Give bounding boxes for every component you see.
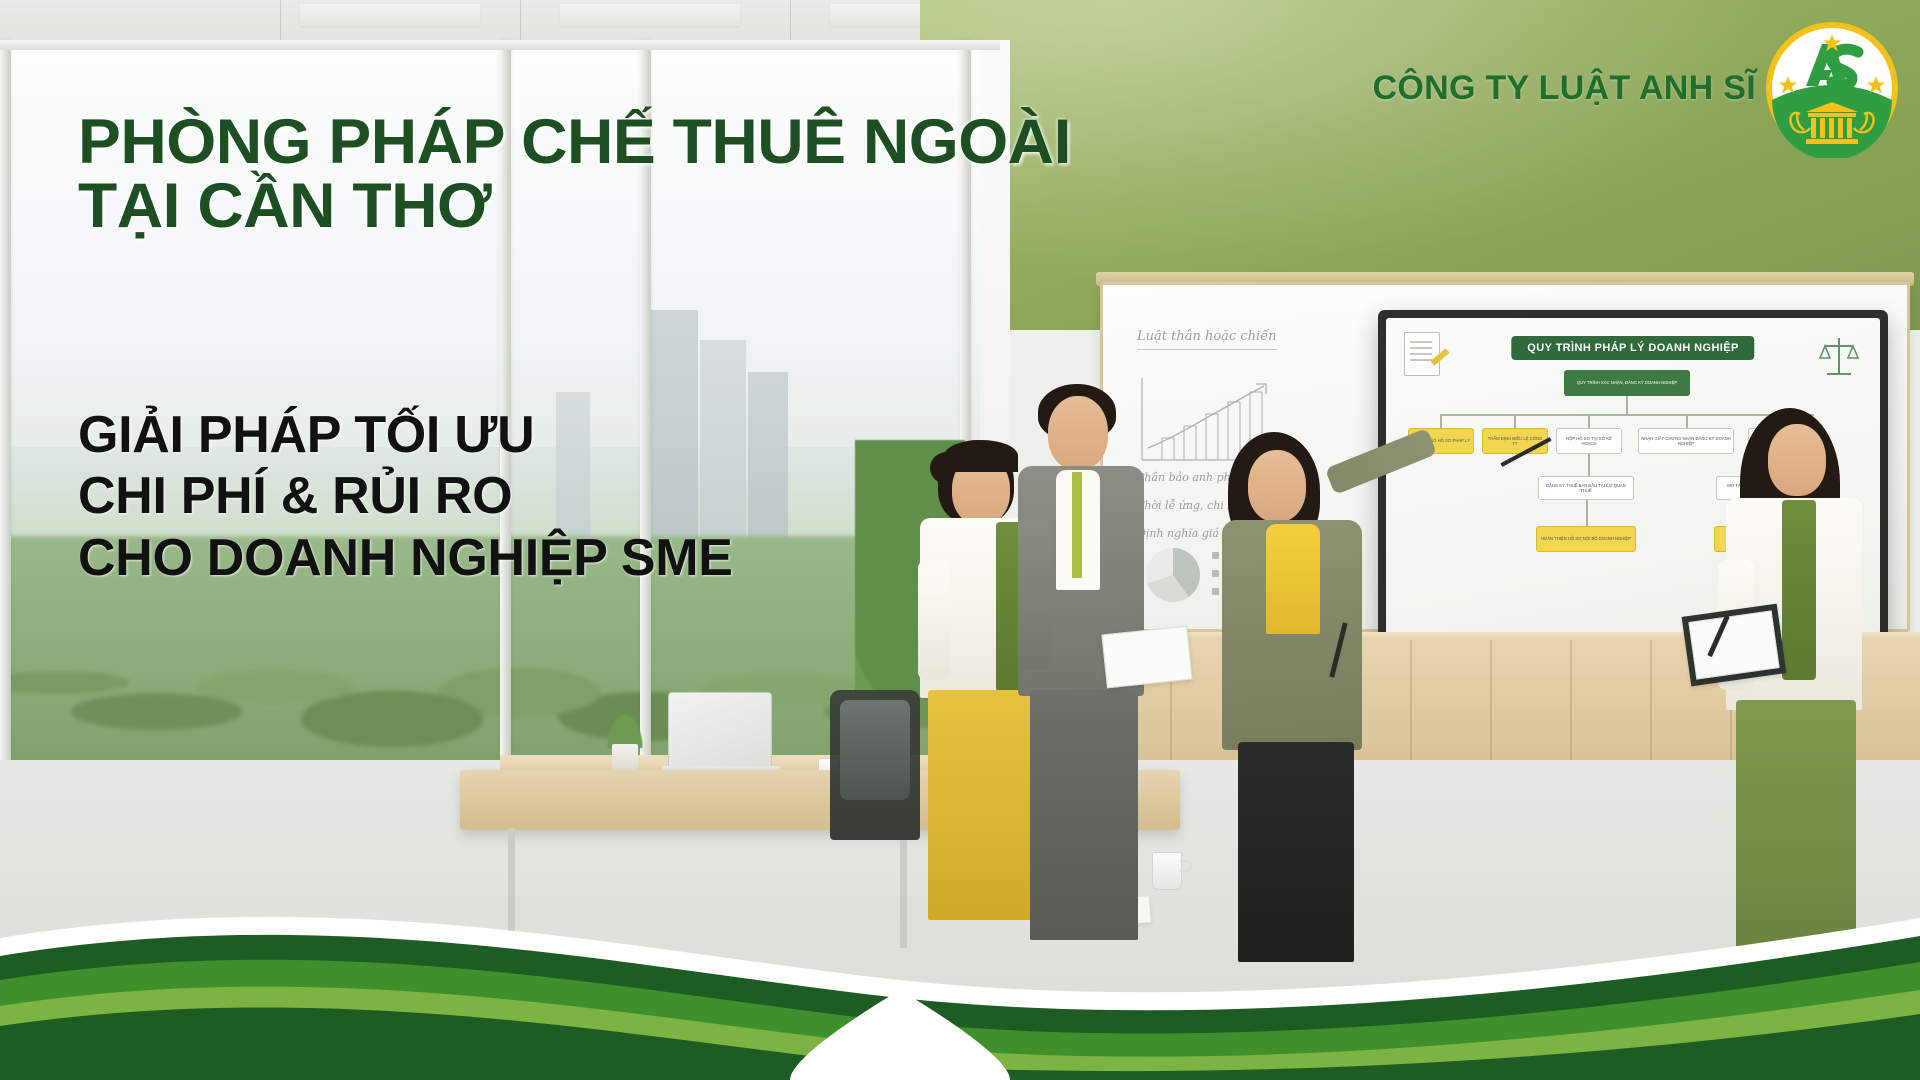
wave-decoration: [0, 830, 1920, 1080]
headline-line-2: TẠI CẦN THƠ: [78, 174, 1071, 238]
headline-line-1: PHÒNG PHÁP CHẾ THUÊ NGOÀI: [78, 110, 1071, 174]
diagram-node: THẨM ĐỊNH ĐIỀU LỆ CÔNG TY: [1482, 428, 1548, 454]
diagram-node: NHẬN GIẤY CHỨNG NHẬN ĐĂNG KÝ DOANH NGHIỆ…: [1638, 428, 1734, 454]
small-plant-pot: [612, 744, 638, 770]
office-chair-back: [840, 700, 910, 800]
subheadline-line-3: CHO DOANH NGHIỆP SME: [78, 528, 733, 589]
whiteboard-pie-chart: [1146, 548, 1200, 602]
whiteboard-title: Luật thân hoặc chiến: [1137, 329, 1277, 344]
diagram-node: HOÀN THIỆN HỒ SƠ NỘI BỘ DOANH NGHIỆP: [1536, 526, 1636, 552]
diagram-node: ĐĂNG KÝ THUẾ BAN ĐẦU TẠI CƠ QUAN THUẾ: [1538, 476, 1634, 500]
company-logo: LUẬT: [1762, 18, 1902, 158]
logo-pillar-label: LUẬT: [1823, 104, 1842, 113]
document-icon: [1404, 332, 1440, 376]
company-name: CÔNG TY LUẬT ANH SĨ: [1373, 69, 1757, 108]
headline-block: PHÒNG PHÁP CHẾ THUÊ NGOÀI TẠI CẦN THƠ: [78, 110, 1051, 239]
diagram-root-node: QUY TRÌNH XÁC NHẬN, ĐĂNG KÝ DOANH NGHIỆP: [1564, 370, 1690, 396]
promo-banner: Luật thân hoặc chiến Lý về năng Oxide Ph…: [0, 0, 1920, 1080]
brand-bar: CÔNG TY LUẬT ANH SĨ: [1373, 18, 1903, 158]
subheadline-line-2: CHI PHÍ & RỦI RO: [78, 466, 733, 527]
diagram-node: NỘP HỒ SƠ TẠI SỞ KẾ HOẠCH: [1556, 428, 1622, 454]
clipboard-paper: [1688, 610, 1779, 679]
scales-of-justice-icon: [1818, 334, 1860, 378]
documents: [1101, 626, 1192, 689]
subheadline-line-1: GIẢI PHÁP TỐI ƯU: [78, 405, 733, 466]
small-plant-leaves: [606, 712, 644, 748]
tv-diagram-title: QUY TRÌNH PHÁP LÝ DOANH NGHIỆP: [1511, 336, 1754, 360]
subheadline-block: GIẢI PHÁP TỐI ƯU CHI PHÍ & RỦI RO CHO DO…: [78, 405, 733, 589]
laptop-lid: [668, 692, 772, 770]
